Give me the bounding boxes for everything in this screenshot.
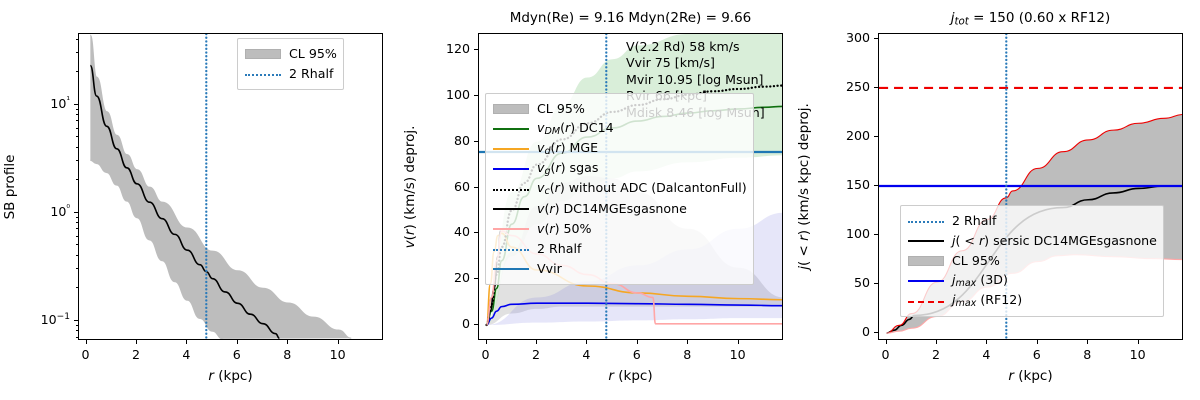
legend-item[interactable]: j( < r) sersic DC14MGEsgasnone <box>907 231 1157 251</box>
y-minor-tick <box>76 109 79 110</box>
x-tick-label: 6 <box>1012 347 1062 362</box>
y-minor-tick <box>76 120 79 121</box>
y-tick-label: 100 <box>412 87 470 102</box>
x-tick-mark <box>536 340 537 344</box>
x-tick-mark <box>287 340 288 344</box>
x-tick-label: 10 <box>713 347 763 362</box>
legend-key-line-icon <box>492 122 530 136</box>
x-tick-mark <box>886 340 887 344</box>
legend-item[interactable]: v(r) DC14MGEsgasnone <box>492 199 747 219</box>
legend-item[interactable]: 2 Rhalf <box>492 239 747 259</box>
y-tick-mark <box>474 278 478 279</box>
legend-label: j( < r) sersic DC14MGEsgasnone <box>952 235 1157 248</box>
x-tick-label: 0 <box>861 347 911 362</box>
y-tick-mark <box>474 324 478 325</box>
legend-label: Vvir <box>537 263 562 276</box>
legend-item[interactable]: vg(r) sgas <box>492 159 747 179</box>
legend-label: 2 Rhalf <box>952 215 996 228</box>
x-tick-label: 8 <box>1062 347 1112 362</box>
y-tick-mark <box>474 95 478 96</box>
x-tick-label: 8 <box>262 347 312 362</box>
y-minor-tick <box>76 287 79 288</box>
legend-label: vc(r) without ADC (DalcantonFull) <box>537 182 747 197</box>
x-axis-label: r (kpc) <box>78 368 383 384</box>
x-tick-mark <box>186 340 187 344</box>
legend-label: 2 Rhalf <box>289 68 333 81</box>
x-tick-label: 6 <box>212 347 262 362</box>
y-tick-label: 60 <box>412 179 470 194</box>
y-tick-mark <box>874 185 878 186</box>
x-tick-mark <box>586 340 587 344</box>
y-tick-mark <box>474 232 478 233</box>
x-tick-label: 2 <box>911 347 961 362</box>
y-tick-mark <box>874 234 878 235</box>
legend-item[interactable]: v(r) 50% <box>492 219 747 239</box>
x-tick-mark <box>237 340 238 344</box>
legend-item[interactable]: vc(r) without ADC (DalcantonFull) <box>492 179 747 199</box>
x-tick-label: 10 <box>313 347 363 362</box>
legend-key-patch-icon <box>244 47 282 61</box>
legend-key-patch-icon <box>907 254 945 268</box>
x-tick-mark <box>738 340 739 344</box>
x-tick-mark <box>1138 340 1139 344</box>
y-tick-label: 10⁰ <box>12 204 70 219</box>
y-tick-mark <box>474 49 478 50</box>
legend-label: v(r) 50% <box>537 223 591 236</box>
figure-canvas: 024681010−110⁰10¹r (kpc)SB profileCL 95%… <box>0 0 1200 400</box>
y-tick-label: 20 <box>412 270 470 285</box>
y-tick-mark <box>874 38 878 39</box>
y-tick-label: 50 <box>812 275 870 290</box>
panel-angular-momentum-title: jtot = 150 (0.60 x RF12) <box>878 10 1183 27</box>
legend-label: vg(r) sgas <box>537 162 598 177</box>
y-tick-label: 40 <box>412 224 470 239</box>
x-tick-label: 2 <box>111 347 161 362</box>
y-tick-label: 80 <box>412 133 470 148</box>
y-axis-label: SB profile <box>2 137 18 237</box>
y-tick-mark <box>874 283 878 284</box>
panel-velocity-legend[interactable]: CL 95%vDM(r) DC14vd(r) MGEvg(r) sgasvc(r… <box>485 93 754 285</box>
y-axis-label: v(r) (km/s) deproj. <box>402 112 418 262</box>
legend-key-dotted-icon <box>907 214 945 228</box>
y-minor-tick <box>76 268 79 269</box>
x-tick-label: 0 <box>61 347 111 362</box>
panel-velocity-title: Mdyn(Re) = 9.16 Mdyn(2Re) = 9.66 <box>478 10 783 26</box>
y-minor-tick <box>76 217 79 218</box>
legend-label: jmax (3D) <box>952 274 1008 289</box>
legend-key-line-icon <box>907 234 945 248</box>
legend-item[interactable]: vDM(r) DC14 <box>492 119 747 139</box>
x-tick-mark <box>338 340 339 344</box>
x-tick-label: 4 <box>561 347 611 362</box>
y-tick-label: 120 <box>412 41 470 56</box>
x-tick-mark <box>687 340 688 344</box>
y-minor-tick <box>76 147 79 148</box>
x-tick-label: 2 <box>511 347 561 362</box>
legend-item[interactable]: jmax (RF12) <box>907 291 1157 311</box>
y-tick-mark <box>474 187 478 188</box>
x-tick-label: 8 <box>662 347 712 362</box>
legend-label: 2 Rhalf <box>537 243 581 256</box>
x-tick-mark <box>986 340 987 344</box>
y-minor-tick <box>76 52 79 53</box>
x-tick-mark <box>136 340 137 344</box>
legend-item[interactable]: CL 95% <box>907 251 1157 271</box>
y-axis-label: j( < r) (km/s kpc) deproj. <box>796 94 812 279</box>
y-minor-tick <box>76 39 79 40</box>
legend-key-line-icon <box>907 274 945 288</box>
x-axis-label: r (kpc) <box>478 368 783 384</box>
legend-key-line-icon <box>492 162 530 176</box>
x-tick-label: 4 <box>161 347 211 362</box>
legend-key-dotted-icon <box>244 67 282 81</box>
legend-item[interactable]: vd(r) MGE <box>492 139 747 159</box>
legend-item[interactable]: CL 95% <box>244 44 337 64</box>
x-tick-mark <box>637 340 638 344</box>
y-tick-mark <box>474 141 478 142</box>
legend-key-line-icon <box>492 222 530 236</box>
y-minor-tick <box>76 330 79 331</box>
legend-item[interactable]: Vvir <box>492 259 747 279</box>
y-tick-mark <box>874 332 878 333</box>
x-tick-mark <box>936 340 937 344</box>
x-tick-mark <box>1087 340 1088 344</box>
y-minor-tick <box>76 71 79 72</box>
legend-label: v(r) DC14MGEsgasnone <box>537 203 687 216</box>
x-axis-label: r (kpc) <box>878 368 1183 384</box>
legend-label: vDM(r) DC14 <box>537 122 614 137</box>
legend-item[interactable]: 2 Rhalf <box>244 64 337 84</box>
legend-key-patch-icon <box>492 102 530 116</box>
y-minor-tick <box>76 114 79 115</box>
y-tick-label: 0 <box>412 316 470 331</box>
y-minor-tick <box>76 228 79 229</box>
y-minor-tick <box>76 244 79 245</box>
legend-key-dotted-icon <box>492 242 530 256</box>
legend-label: CL 95% <box>952 255 1000 268</box>
y-minor-tick <box>76 136 79 137</box>
panel-sb-profile-legend[interactable]: CL 95%2 Rhalf <box>237 38 344 90</box>
y-tick-mark <box>874 87 878 88</box>
y-minor-tick <box>76 325 79 326</box>
legend-item[interactable]: 2 Rhalf <box>907 211 1157 231</box>
y-tick-mark <box>874 136 878 137</box>
legend-key-line-icon <box>492 202 530 216</box>
x-tick-mark <box>86 340 87 344</box>
x-tick-label: 0 <box>461 347 511 362</box>
legend-label: CL 95% <box>537 103 585 116</box>
y-tick-label: 10¹ <box>12 96 70 111</box>
legend-item[interactable]: jmax (3D) <box>907 271 1157 291</box>
y-tick-label: 300 <box>812 30 870 45</box>
y-tick-mark <box>74 212 78 213</box>
panel-angular-momentum-legend[interactable]: 2 Rhalfj( < r) sersic DC14MGEsgasnoneCL … <box>900 205 1164 317</box>
legend-label: CL 95% <box>289 48 337 61</box>
y-minor-tick <box>76 179 79 180</box>
y-tick-label: 10−1 <box>12 312 70 327</box>
y-minor-tick <box>76 128 79 129</box>
y-minor-tick <box>76 337 79 338</box>
y-tick-label: 150 <box>812 177 870 192</box>
x-tick-mark <box>486 340 487 344</box>
y-tick-mark <box>74 104 78 105</box>
legend-item[interactable]: CL 95% <box>492 99 747 119</box>
x-tick-mark <box>1037 340 1038 344</box>
x-tick-label: 6 <box>612 347 662 362</box>
y-tick-label: 200 <box>812 128 870 143</box>
legend-key-dotted-icon <box>492 182 530 196</box>
legend-key-line-icon <box>492 142 530 156</box>
y-minor-tick <box>76 222 79 223</box>
y-tick-label: 0 <box>812 324 870 339</box>
y-tick-label: 100 <box>812 226 870 241</box>
legend-label: jmax (RF12) <box>952 294 1022 309</box>
y-tick-label: 250 <box>812 79 870 94</box>
x-tick-label: 4 <box>961 347 1011 362</box>
y-minor-tick <box>76 255 79 256</box>
x-tick-label: 10 <box>1113 347 1163 362</box>
y-tick-mark <box>74 320 78 321</box>
y-minor-tick <box>76 236 79 237</box>
y-minor-tick <box>76 160 79 161</box>
legend-label: vd(r) MGE <box>537 142 598 157</box>
legend-key-dashed-icon <box>907 294 945 308</box>
legend-key-line-icon <box>492 262 530 276</box>
